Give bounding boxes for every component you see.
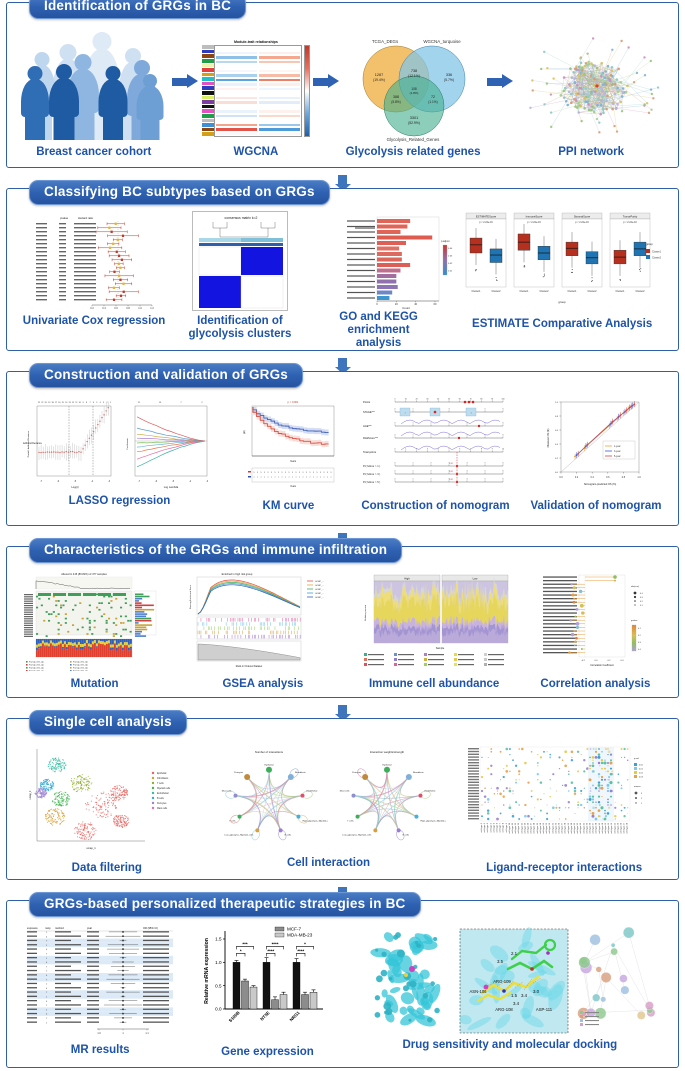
svg-text:0.4: 0.4 [102, 307, 106, 309]
figure-gene-expression: 0.00.51.01.5Relative mRNA expressionS100… [199, 923, 335, 1059]
svg-text:9: 9 [285, 472, 286, 474]
umap-plot: umap_1umap_2EpithelialFibroblastsT cells… [23, 743, 191, 860]
svg-text:0.4: 0.4 [591, 476, 595, 479]
svg-text:72: 72 [431, 95, 435, 99]
svg-text:nsnp: nsnp [45, 927, 51, 930]
venn-set-label-3: Glycolysis_Related_Genes [387, 137, 441, 142]
svg-text:Coefficients: Coefficients [126, 437, 129, 449]
svg-text:Running Enrichment Score: Running Enrichment Score [189, 584, 192, 609]
svg-text:0.3: 0.3 [638, 642, 642, 644]
svg-text:0.2: 0.2 [608, 660, 612, 662]
svg-text:9: 9 [264, 472, 265, 474]
svg-text:3: 3 [104, 402, 106, 404]
svg-text:cell-type 29: cell-type 29 [567, 822, 570, 833]
svg-text:2: 2 [431, 423, 432, 425]
svg-text:-7: -7 [40, 480, 43, 483]
svg-text:cell-type 14: cell-type 14 [520, 822, 523, 833]
svg-text:0.4: 0.4 [638, 649, 642, 651]
svg-text:0.2: 0.2 [90, 307, 94, 309]
svg-text:cell-type 16: cell-type 16 [527, 822, 530, 833]
svg-text:9: 9 [320, 472, 321, 474]
svg-text:0.4: 0.4 [555, 444, 559, 446]
svg-text:10: 10 [502, 449, 504, 451]
svg-text:1.5: 1.5 [511, 993, 518, 998]
figure-calibration: 0.00.00.20.20.40.40.60.60.80.81.01.0Nomo… [531, 394, 662, 513]
svg-text:p-val: p-val [634, 758, 639, 760]
svg-text:1: 1 [413, 479, 414, 481]
svg-text:cell-type 22: cell-type 22 [545, 822, 548, 833]
panel-2-title: Classifying BC subtypes based on GRGs [29, 180, 330, 205]
svg-text:Family_GS_Up: Family_GS_Up [73, 664, 89, 666]
figure-mr-results: exposurensnpmethodpvalOR (95% CI)1471471… [25, 923, 175, 1057]
svg-text:1.0: 1.0 [637, 476, 641, 479]
svg-text:p < 2.22e-16: p < 2.22e-16 [623, 221, 637, 224]
svg-text:3.5: 3.5 [497, 959, 504, 964]
svg-text:cell-type 11: cell-type 11 [511, 822, 514, 833]
svg-text:Total points: Total points [363, 450, 377, 454]
svg-text:Enriched in high risk group: Enriched in high risk group [222, 572, 253, 576]
svg-text:Fibroblasts: Fibroblasts [295, 771, 307, 774]
svg-text:3: 3 [449, 435, 450, 437]
svg-text:TumorPurity: TumorPurity [623, 214, 638, 218]
svg-text:2: 2 [431, 479, 432, 481]
svg-text:9: 9 [492, 449, 493, 451]
svg-text:5: 5 [97, 402, 99, 404]
svg-text:cell-type 34: cell-type 34 [582, 822, 585, 833]
svg-text:Pr( futime > 1 ): Pr( futime > 1 ) [363, 464, 380, 468]
svg-text:NRG1: NRG1 [289, 1010, 302, 1023]
svg-text:7: 7 [289, 477, 290, 479]
svg-text:9: 9 [254, 472, 255, 474]
svg-text:4: 4 [467, 463, 468, 465]
figure-gsea: Enriched in high risk groupGOBP_...GOBP_… [185, 569, 341, 691]
svg-text:(19.4%): (19.4%) [373, 78, 385, 82]
svg-text:7: 7 [306, 477, 307, 479]
svg-text:cell-type 25: cell-type 25 [555, 822, 558, 833]
svg-text:40: 40 [414, 302, 417, 306]
panel-construction-validation: Construction and validation of GRGs 2221… [6, 371, 679, 526]
svg-text:40: 40 [438, 399, 440, 401]
svg-text:Mast cells: Mast cells [157, 807, 168, 810]
svg-text:Pr( futime > 3 ): Pr( futime > 3 ) [363, 472, 380, 476]
svg-text:0.82: 0.82 [450, 471, 454, 473]
svg-text:(12.1%): (12.1%) [408, 74, 420, 78]
caption-validation-of-nomogram: Validation of nomogram [531, 500, 662, 513]
svg-text:cell-type 47: cell-type 47 [623, 822, 626, 833]
svg-text:2: 2 [202, 402, 204, 404]
svg-text:20: 20 [416, 399, 418, 401]
figure-docking: 2.13.51.53.43.03.4ARG-109ASN-106ARG-108A… [360, 923, 660, 1052]
svg-text:Pericytes: Pericytes [353, 771, 363, 774]
svg-text:80: 80 [481, 399, 483, 401]
svg-text:T cells: T cells [348, 821, 355, 823]
svg-text:cell-type 9: cell-type 9 [505, 822, 508, 832]
svg-text:Cluster2: Cluster2 [652, 256, 662, 259]
svg-text:Mast cells: Mast cells [340, 790, 351, 793]
svg-text:6: 6 [503, 471, 504, 473]
arrow-right-icon [172, 75, 198, 88]
svg-text:Years: Years [291, 485, 298, 488]
svg-text:7: 7 [331, 477, 332, 479]
svg-text:cell-type 3: cell-type 3 [486, 822, 489, 832]
svg-text:9: 9 [271, 472, 272, 474]
svg-text:Myeloid cells: Myeloid cells [157, 788, 171, 790]
svg-text:****: **** [268, 948, 275, 953]
svg-text:cell-type 48: cell-type 48 [626, 822, 629, 833]
svg-text:Cluster2: Cluster2 [636, 290, 646, 293]
svg-text:Number of interactions: Number of interactions [255, 750, 284, 754]
svg-text:pval: pval [87, 926, 92, 930]
svg-text:5: 5 [485, 471, 486, 473]
svg-text:S100B: S100B [228, 1010, 241, 1023]
svg-text:Pericytes: Pericytes [157, 802, 167, 805]
svg-text:cell-type 21: cell-type 21 [542, 822, 545, 833]
svg-text:Low_glycolysis_Myeloid_cells: Low_glycolysis_Myeloid_cells [225, 834, 255, 836]
svg-text:0.02: 0.02 [639, 773, 644, 775]
svg-text:Endothelial: Endothelial [425, 790, 436, 793]
svg-text:60: 60 [433, 302, 436, 306]
svg-text:1: 1 [46, 984, 48, 986]
svg-text:-4: -4 [91, 480, 94, 483]
svg-text:cell-type 18: cell-type 18 [533, 822, 536, 833]
caption-gene-expression: Gene expression [221, 1046, 314, 1059]
svg-text:0.04: 0.04 [448, 248, 453, 250]
svg-text:1-year: 1-year [614, 445, 621, 448]
svg-text:MDA-MB-23: MDA-MB-23 [287, 933, 313, 938]
svg-text:7: 7 [46, 1018, 48, 1020]
svg-text:6: 6 [503, 435, 504, 437]
svg-text:7: 7 [299, 477, 300, 479]
svg-text:(5.8%): (5.8%) [391, 100, 400, 104]
svg-text:1.0: 1.0 [97, 1032, 101, 1035]
svg-text:cell-type 28: cell-type 28 [564, 822, 567, 833]
svg-text:9: 9 [83, 402, 85, 404]
svg-text:4: 4 [467, 423, 468, 425]
svg-text:10: 10 [405, 399, 407, 401]
gsea-plot: Enriched in high risk groupGOBP_...GOBP_… [185, 569, 341, 676]
svg-text:cell-type 36: cell-type 36 [589, 822, 592, 833]
svg-text:cell-type 7: cell-type 7 [499, 822, 502, 832]
figure-km-curve: p < 0.001Yearsp(t)9797979797979797979797… [236, 394, 340, 513]
docking-composite: 2.13.51.53.43.03.4ARG-109ASN-106ARG-108A… [360, 923, 660, 1037]
svg-text:0: 0 [395, 449, 396, 451]
svg-text:3-year: 3-year [614, 450, 621, 453]
svg-text:Cluster1: Cluster1 [568, 290, 578, 293]
svg-text:0: 0 [395, 399, 396, 401]
svg-text:-4: -4 [189, 480, 192, 483]
svg-text:9: 9 [299, 472, 300, 474]
svg-text:cell-type 40: cell-type 40 [601, 822, 604, 833]
svg-text:9: 9 [324, 472, 325, 474]
svg-text:0.1: 0.1 [640, 605, 644, 607]
svg-text:cell-type 15: cell-type 15 [524, 822, 527, 833]
svg-text:Family_GS_Up: Family_GS_Up [29, 664, 45, 666]
svg-text:0.8: 0.8 [622, 476, 626, 479]
svg-text:Cluster1: Cluster1 [472, 290, 482, 293]
svg-text:cell-type 41: cell-type 41 [604, 822, 607, 833]
svg-text:Family_GS_Up: Family_GS_Up [29, 667, 45, 669]
svg-text:p.adjust: p.adjust [441, 240, 450, 243]
svg-text:1.2: 1.2 [150, 307, 154, 309]
svg-text:7: 7 [303, 477, 304, 479]
svg-text:1: 1 [413, 463, 414, 465]
svg-text:ASN-106: ASN-106 [469, 989, 487, 994]
estimate-boxplots: ESTIMATEScorep < 2.22e-16Cluster1Cluster… [462, 211, 662, 316]
svg-text:B cells: B cells [403, 834, 410, 836]
svg-text:cell-type 13: cell-type 13 [517, 822, 520, 833]
svg-text:cell-type 30: cell-type 30 [570, 822, 573, 833]
svg-text:1.0: 1.0 [138, 307, 142, 309]
svg-text:cell-type 2: cell-type 2 [483, 822, 486, 832]
svg-text:Family_GS_Up: Family_GS_Up [73, 661, 89, 663]
svg-text:8: 8 [87, 402, 89, 404]
svg-text:cell-type 6: cell-type 6 [496, 822, 499, 832]
svg-text:1.0: 1.0 [555, 402, 559, 404]
svg-text:Mast cells: Mast cells [222, 790, 233, 793]
svg-text:StromalScore: StromalScore [574, 214, 591, 218]
figure-lasso: 22212019181716151413121110987654321-7-6-… [23, 394, 215, 508]
svg-text:Interaction weights/strength: Interaction weights/strength [370, 750, 405, 754]
figure-univariate-cox: pvalueHazard ratio0.20.40.60.81.01.2Haza… [23, 211, 166, 328]
svg-text:0: 0 [395, 479, 396, 481]
svg-text:cell-type 38: cell-type 38 [595, 822, 598, 833]
svg-text:1: 1 [46, 1022, 48, 1024]
svg-text:cell-type 46: cell-type 46 [620, 822, 623, 833]
svg-text:Family_GS_Up: Family_GS_Up [73, 667, 89, 669]
svg-text:7: 7 [278, 477, 279, 479]
svg-text:4: 4 [467, 471, 468, 473]
svg-text:p(t): p(t) [243, 430, 246, 434]
svg-text:Partial Likelihood Deviance: Partial Likelihood Deviance [27, 430, 30, 457]
svg-text:cell-type 10: cell-type 10 [508, 822, 511, 833]
svg-text:3: 3 [641, 793, 643, 795]
svg-text:Epithelial: Epithelial [383, 764, 392, 767]
svg-text:Nomogram-predicted OS (%): Nomogram-predicted OS (%) [584, 483, 617, 486]
svg-text:cell-type 32: cell-type 32 [576, 822, 579, 833]
svg-text:cell-type 17: cell-type 17 [530, 822, 533, 833]
svg-text:5: 5 [485, 479, 486, 481]
svg-text:9: 9 [289, 472, 290, 474]
svg-text:50: 50 [448, 399, 450, 401]
svg-text:6: 6 [460, 449, 461, 451]
svg-text:umap_1: umap_1 [86, 846, 96, 850]
panel-1-title: Identification of GRGs in BC [29, 0, 246, 19]
svg-text:ARG-108: ARG-108 [495, 1007, 513, 1012]
svg-text:0.0: 0.0 [216, 1007, 223, 1012]
svg-text:-7: -7 [138, 480, 141, 483]
svg-text:7: 7 [310, 477, 311, 479]
svg-text:6: 6 [503, 409, 504, 411]
svg-text:AGE***: AGE*** [363, 424, 372, 428]
svg-text:means: means [634, 786, 641, 788]
svg-text:0.6: 0.6 [555, 430, 559, 432]
qpcr-bar-chart: 0.00.51.01.5Relative mRNA expressionS100… [199, 923, 335, 1044]
svg-text:5: 5 [485, 463, 486, 465]
svg-text:Cluster2: Cluster2 [588, 290, 598, 293]
svg-text:3: 3 [449, 409, 450, 411]
svg-text:0: 0 [395, 463, 396, 465]
svg-text:0.3: 0.3 [640, 597, 644, 599]
heatmap-title: Module-trait relationships [202, 40, 310, 44]
svg-text:3.4: 3.4 [521, 993, 528, 998]
svg-text:4: 4 [46, 949, 48, 951]
svg-text:MCF-7: MCF-7 [287, 927, 301, 932]
panel-therapeutic-strategies: GRGs-based personalized therapeutic stra… [6, 900, 679, 1068]
svg-text:1: 1 [122, 1032, 124, 1035]
svg-text:1: 1 [413, 435, 414, 437]
caption-correlation-analysis: Correlation analysis [540, 678, 650, 691]
svg-text:p < 2.22e-16: p < 2.22e-16 [479, 221, 493, 224]
svg-text:B cells: B cells [285, 834, 292, 836]
svg-text:Pr( futime > 5 ): Pr( futime > 5 ) [363, 480, 380, 484]
panel-6-title: GRGs-based personalized therapeutic stra… [29, 892, 421, 917]
svg-text:0.0: 0.0 [555, 472, 559, 474]
venn-set-label-1: TCGA_DEGs [372, 39, 399, 44]
svg-text:p < 0.001: p < 0.001 [288, 400, 299, 404]
figure-nomogram: Points0102030405060708090100STAGE***0123… [361, 394, 509, 513]
svg-text:0.03: 0.03 [639, 777, 644, 779]
svg-text:6: 6 [93, 402, 95, 404]
nomogram-plot: Points0102030405060708090100STAGE***0123… [361, 394, 509, 497]
svg-text:High: High [404, 576, 410, 580]
svg-text:9: 9 [331, 472, 332, 474]
svg-text:-3: -3 [206, 480, 209, 483]
svg-text:0.0: 0.0 [595, 660, 599, 662]
figure-data-filtering: umap_1umap_2EpithelialFibroblastsT cells… [23, 743, 191, 875]
venn-set-label-2: WGCNA_turquoise [423, 39, 461, 44]
svg-text:-5: -5 [172, 480, 175, 483]
svg-text:0.00: 0.00 [639, 765, 644, 767]
svg-text:0: 0 [395, 423, 396, 425]
arrow-right-icon [487, 75, 513, 88]
caption-univariate-cox-regression: Univariate Cox regression [23, 315, 166, 328]
svg-text:9: 9 [268, 472, 269, 474]
svg-text:1: 1 [413, 409, 414, 411]
panel-characteristics-immune: Characteristics of the GRGs and immune i… [6, 546, 679, 698]
svg-text:2: 2 [431, 435, 432, 437]
svg-text:STAGE***: STAGE*** [363, 410, 375, 414]
svg-text:Relative mRNA expression: Relative mRNA expression [204, 938, 210, 1004]
svg-text:cell-type 37: cell-type 37 [592, 822, 595, 833]
svg-text:cell-type 33: cell-type 33 [579, 822, 582, 833]
svg-text:cell-type 20: cell-type 20 [539, 822, 542, 833]
svg-text:7: 7 [313, 477, 314, 479]
svg-text:0: 0 [376, 302, 378, 306]
svg-text:cell-type 12: cell-type 12 [514, 822, 517, 833]
svg-text:group: group [559, 300, 567, 304]
svg-text:0: 0 [395, 409, 396, 411]
svg-text:T cells: T cells [157, 783, 164, 785]
panel-4-title: Characteristics of the GRGs and immune i… [29, 538, 402, 563]
svg-text:1.1: 1.1 [145, 1032, 149, 1035]
svg-text:7: 7 [264, 477, 265, 479]
svg-text:Points: Points [363, 400, 371, 404]
svg-text:4: 4 [100, 402, 102, 404]
svg-text:5: 5 [485, 409, 486, 411]
svg-text:Epithelial: Epithelial [265, 764, 274, 767]
svg-text:7: 7 [327, 477, 328, 479]
caption-gsea-analysis: GSEA analysis [222, 678, 303, 691]
svg-text:T cells: T cells [230, 821, 237, 823]
svg-text:7: 7 [90, 402, 92, 404]
svg-text:Low: Low [473, 576, 478, 580]
figure-mutation: Altered in 415 (86.82%) of 477 samplesFa… [22, 569, 168, 691]
svg-text:336: 336 [446, 73, 452, 77]
svg-text:Low_glycolysis_Myeloid_cells: Low_glycolysis_Myeloid_cells [343, 834, 373, 836]
svg-text:20: 20 [394, 302, 397, 306]
svg-text:7: 7 [181, 402, 183, 404]
svg-text:7: 7 [271, 477, 272, 479]
svg-text:70: 70 [470, 399, 472, 401]
svg-text:3.4: 3.4 [513, 1001, 520, 1006]
svg-text:7: 7 [317, 477, 318, 479]
svg-text:0.8: 0.8 [555, 416, 559, 418]
svg-text:1: 1 [110, 402, 112, 404]
svg-text:9: 9 [292, 472, 293, 474]
svg-text:cell-type 31: cell-type 31 [573, 822, 576, 833]
svg-text:9: 9 [310, 472, 311, 474]
svg-text:cell-type 24: cell-type 24 [551, 822, 554, 833]
svg-text:group: group [646, 242, 653, 246]
svg-text:7: 7 [296, 477, 297, 479]
svg-text:Cluster2: Cluster2 [492, 290, 502, 293]
svg-text:7: 7 [275, 477, 276, 479]
svg-text:4: 4 [46, 988, 48, 990]
svg-text:Endothelial: Endothelial [307, 790, 318, 793]
svg-text:1: 1 [46, 971, 48, 973]
svg-text:7: 7 [268, 477, 269, 479]
svg-text:6: 6 [503, 479, 504, 481]
svg-text:0.82: 0.82 [450, 463, 454, 465]
svg-text:0: 0 [395, 435, 396, 437]
svg-text:Fibroblasts: Fibroblasts [157, 777, 169, 780]
figure-breast-cancer-cohort: Breast cancer cohort [19, 32, 169, 159]
svg-text:RiskScore***: RiskScore*** [363, 436, 378, 440]
svg-text:0.2: 0.2 [555, 458, 559, 460]
figure-ppi-network: PPI network [516, 36, 666, 159]
caption-go-kegg-enrichment: GO and KEGG enrichment analysis [324, 311, 434, 350]
svg-text:0.03: 0.03 [448, 256, 453, 258]
svg-text:cell-type 5: cell-type 5 [493, 822, 496, 832]
panel-identification-of-grgs: Identification of GRGs in BC [6, 2, 679, 168]
svg-text:High_glycolysis_Myeloid_cells: High_glycolysis_Myeloid_cells [303, 821, 329, 823]
svg-text:(52.9%): (52.9%) [408, 121, 420, 125]
svg-text:*: * [240, 948, 242, 953]
caption-breast-cancer-cohort: Breast cancer cohort [36, 146, 151, 159]
forest-plot: pvalueHazard ratio0.20.40.60.81.01.2Haza… [30, 211, 158, 309]
svg-text:1: 1 [46, 932, 48, 934]
svg-text:0.5: 0.5 [216, 983, 223, 988]
svg-text:1.5: 1.5 [216, 937, 223, 942]
svg-text:Years: Years [290, 460, 297, 463]
svg-text:9: 9 [313, 472, 314, 474]
svg-text:-0.2: -0.2 [581, 660, 586, 662]
svg-text:Count: Count [402, 306, 410, 310]
svg-text:9: 9 [282, 472, 283, 474]
caption-km-curve: KM curve [263, 500, 315, 513]
svg-text:****: **** [298, 948, 305, 953]
svg-text:1: 1 [413, 471, 414, 473]
svg-text:Endothelial: Endothelial [157, 792, 169, 795]
panel-3-title: Construction and validation of GRGs [29, 363, 303, 388]
svg-text:GOBP_...: GOBP_... [315, 593, 324, 595]
calibration-plot: 0.00.00.20.20.40.40.60.60.80.81.01.0Nomo… [543, 394, 649, 497]
svg-text:Pericytes: Pericytes [235, 771, 245, 774]
svg-text:consensus matrix k=2: consensus matrix k=2 [224, 216, 257, 220]
svg-text:2: 2 [431, 471, 432, 473]
svg-text:7: 7 [254, 477, 255, 479]
svg-text:B cells: B cells [157, 798, 165, 800]
